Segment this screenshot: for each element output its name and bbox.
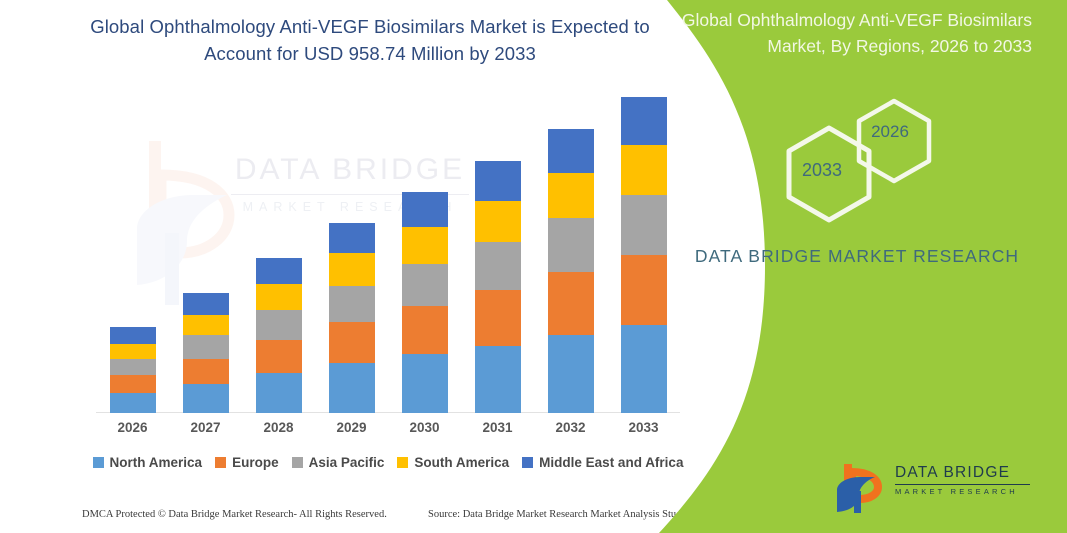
- dbmr-wordmark-line-2: MARKET RESEARCH: [895, 487, 1030, 496]
- legend-label: Asia Pacific: [309, 455, 385, 470]
- legend-label: North America: [110, 455, 203, 470]
- bar-segment[interactable]: [110, 344, 156, 359]
- bar-segment[interactable]: [402, 306, 448, 354]
- bar-segment[interactable]: [548, 173, 594, 218]
- bar-segment[interactable]: [548, 218, 594, 272]
- bar-segment[interactable]: [110, 327, 156, 345]
- bar-segment[interactable]: [256, 340, 302, 374]
- bar-segment[interactable]: [183, 335, 229, 358]
- legend-swatch-icon: [397, 457, 408, 468]
- bar-segment[interactable]: [256, 310, 302, 339]
- x-axis-label-2026: 2026: [110, 420, 156, 435]
- hexagon-2026-label: 2026: [860, 122, 920, 142]
- x-axis-label-2031: 2031: [475, 420, 521, 435]
- bar-column-2032[interactable]: [548, 129, 594, 413]
- bar-segment[interactable]: [475, 290, 521, 346]
- bar-segment[interactable]: [256, 258, 302, 284]
- dbmr-logo-mark-icon: [835, 460, 893, 516]
- bar-segment[interactable]: [183, 293, 229, 315]
- x-axis-label-2027: 2027: [183, 420, 229, 435]
- bar-segment[interactable]: [548, 335, 594, 413]
- dbmr-logo: DATA BRIDGE MARKET RESEARCH: [835, 458, 1030, 520]
- hexagon-2033-label: 2033: [787, 160, 857, 181]
- x-axis-label-2032: 2032: [548, 420, 594, 435]
- bar-column-2029[interactable]: [329, 223, 375, 413]
- legend-item-asia-pacific[interactable]: Asia Pacific: [292, 455, 385, 470]
- bar-segment[interactable]: [183, 359, 229, 384]
- footer: DMCA Protected © Data Bridge Market Rese…: [0, 505, 705, 529]
- page-title: Global Ophthalmology Anti-VEGF Biosimila…: [60, 14, 680, 68]
- x-axis-label-2029: 2029: [329, 420, 375, 435]
- bar-segment[interactable]: [329, 363, 375, 413]
- bar-segment[interactable]: [548, 129, 594, 173]
- chart-panel: Global Ophthalmology Anti-VEGF Biosimila…: [0, 0, 740, 533]
- bar-segment[interactable]: [110, 359, 156, 375]
- x-axis-labels: 20262027202820292030203120322033: [96, 420, 680, 444]
- bar-segment[interactable]: [475, 346, 521, 413]
- bar-column-2028[interactable]: [256, 258, 302, 413]
- bar-segment[interactable]: [548, 272, 594, 335]
- bar-segment[interactable]: [475, 242, 521, 290]
- green-panel-title: Global Ophthalmology Anti-VEGF Biosimila…: [677, 8, 1032, 60]
- legend-item-europe[interactable]: Europe: [215, 455, 279, 470]
- dbmr-wordmark-divider: [895, 484, 1030, 485]
- bar-segment[interactable]: [256, 284, 302, 310]
- bar-segment[interactable]: [402, 354, 448, 413]
- legend-item-south-america[interactable]: South America: [397, 455, 509, 470]
- bar-segment[interactable]: [329, 322, 375, 363]
- bar-segment[interactable]: [110, 393, 156, 414]
- green-side-panel: Global Ophthalmology Anti-VEGF Biosimila…: [647, 0, 1067, 533]
- legend-label: Europe: [232, 455, 279, 470]
- footer-copyright: DMCA Protected © Data Bridge Market Rese…: [82, 509, 387, 520]
- stacked-bar-plot: [96, 120, 680, 413]
- bar-column-2027[interactable]: [183, 293, 229, 413]
- bar-segment[interactable]: [402, 264, 448, 306]
- legend-swatch-icon: [522, 457, 533, 468]
- legend-swatch-icon: [215, 457, 226, 468]
- legend-label: South America: [414, 455, 509, 470]
- infographic-slide: Global Ophthalmology Anti-VEGF Biosimila…: [0, 0, 1067, 533]
- bar-segment[interactable]: [183, 384, 229, 413]
- x-axis-label-2030: 2030: [402, 420, 448, 435]
- bar-segment[interactable]: [329, 286, 375, 323]
- legend-swatch-icon: [93, 457, 104, 468]
- bar-segment[interactable]: [329, 223, 375, 254]
- dbmr-wordmark-line-1: DATA BRIDGE: [895, 464, 1030, 482]
- green-panel-brand: DATA BRIDGE MARKET RESEARCH: [687, 243, 1027, 270]
- bar-column-2031[interactable]: [475, 161, 521, 413]
- chart-legend: North AmericaEuropeAsia PacificSouth Ame…: [96, 455, 680, 470]
- bar-segment[interactable]: [402, 192, 448, 227]
- legend-swatch-icon: [292, 457, 303, 468]
- bar-column-2030[interactable]: [402, 192, 448, 413]
- bar-segment[interactable]: [256, 373, 302, 413]
- x-axis-label-2028: 2028: [256, 420, 302, 435]
- bar-segment[interactable]: [475, 161, 521, 201]
- bar-segment[interactable]: [329, 253, 375, 285]
- bar-segment[interactable]: [402, 227, 448, 264]
- legend-item-north-america[interactable]: North America: [93, 455, 203, 470]
- bar-column-2026[interactable]: [110, 327, 156, 413]
- dbmr-wordmark: DATA BRIDGE MARKET RESEARCH: [895, 464, 1030, 496]
- bar-segment[interactable]: [475, 201, 521, 242]
- bar-segment[interactable]: [183, 315, 229, 336]
- bar-segment[interactable]: [110, 375, 156, 393]
